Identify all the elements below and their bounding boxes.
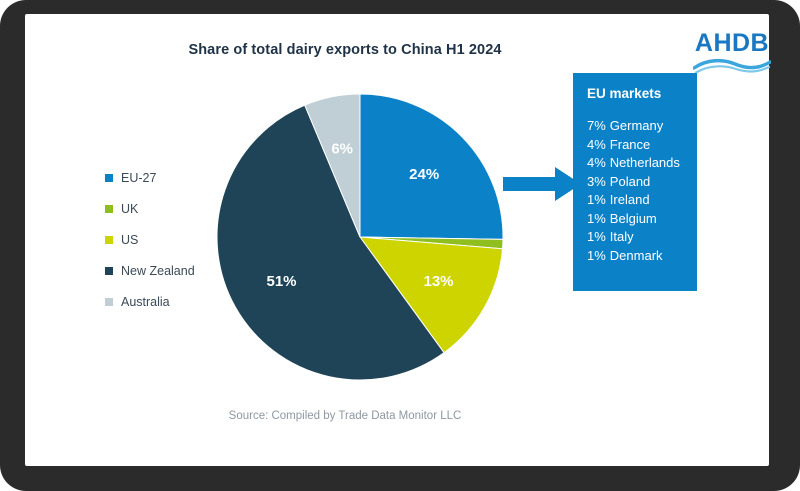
outer-frame: AHDB Share of total dairy exports to Chi… xyxy=(0,0,800,491)
legend-swatch-icon xyxy=(105,174,113,182)
eu-market-percent: 1% xyxy=(587,211,606,226)
eu-market-row: 1%Denmark xyxy=(587,247,697,266)
eu-market-percent: 4% xyxy=(587,137,606,152)
eu-market-name: Netherlands xyxy=(610,155,680,170)
eu-market-percent: 1% xyxy=(587,192,606,207)
eu-market-row: 3%Poland xyxy=(587,173,697,192)
eu-market-percent: 4% xyxy=(587,155,606,170)
pie-slices xyxy=(217,94,503,380)
chart-title: Share of total dairy exports to China H1… xyxy=(85,42,605,58)
eu-market-name: Belgium xyxy=(610,211,657,226)
pie-slice-label: 51% xyxy=(266,273,296,290)
eu-market-row: 1%Italy xyxy=(587,228,697,247)
callout-arrow-icon xyxy=(503,162,583,206)
eu-markets-title: EU markets xyxy=(587,86,697,101)
eu-market-name: Ireland xyxy=(610,192,650,207)
eu-market-percent: 7% xyxy=(587,118,606,133)
ahdb-logo-text: AHDB xyxy=(691,30,773,57)
eu-market-name: Denmark xyxy=(610,248,663,263)
eu-markets-list: 7%Germany4%France4%Netherlands3%Poland1%… xyxy=(587,117,697,265)
legend-label: UK xyxy=(121,202,138,216)
eu-market-row: 4%Netherlands xyxy=(587,154,697,173)
eu-market-percent: 1% xyxy=(587,229,606,244)
eu-market-row: 1%Belgium xyxy=(587,210,697,229)
legend-swatch-icon xyxy=(105,236,113,244)
pie-slice-label: 13% xyxy=(423,273,453,290)
legend-swatch-icon xyxy=(105,205,113,213)
eu-market-name: Germany xyxy=(610,118,663,133)
chart-canvas: AHDB Share of total dairy exports to Chi… xyxy=(25,14,769,466)
source-note: Source: Compiled by Trade Data Monitor L… xyxy=(85,410,605,422)
eu-market-row: 1%Ireland xyxy=(587,191,697,210)
pie-slice-label: 24% xyxy=(409,166,439,183)
ahdb-wave-icon xyxy=(693,56,771,74)
legend-swatch-icon xyxy=(105,267,113,275)
pie-slice-label: 6% xyxy=(331,141,353,158)
eu-market-row: 7%Germany xyxy=(587,117,697,136)
eu-market-row: 4%France xyxy=(587,136,697,155)
legend-label: New Zealand xyxy=(121,264,195,278)
eu-market-name: France xyxy=(610,137,650,152)
legend-label: US xyxy=(121,233,138,247)
eu-markets-box: EU markets 7%Germany4%France4%Netherland… xyxy=(573,73,697,291)
eu-market-name: Italy xyxy=(610,229,634,244)
legend-label: EU-27 xyxy=(121,171,156,185)
ahdb-logo: AHDB xyxy=(691,30,773,76)
eu-market-percent: 3% xyxy=(587,174,606,189)
eu-market-percent: 1% xyxy=(587,248,606,263)
eu-market-name: Poland xyxy=(610,174,650,189)
legend-label: Australia xyxy=(121,295,170,309)
pie-chart: 24%1%13%51%6% xyxy=(210,87,510,387)
legend-swatch-icon xyxy=(105,298,113,306)
